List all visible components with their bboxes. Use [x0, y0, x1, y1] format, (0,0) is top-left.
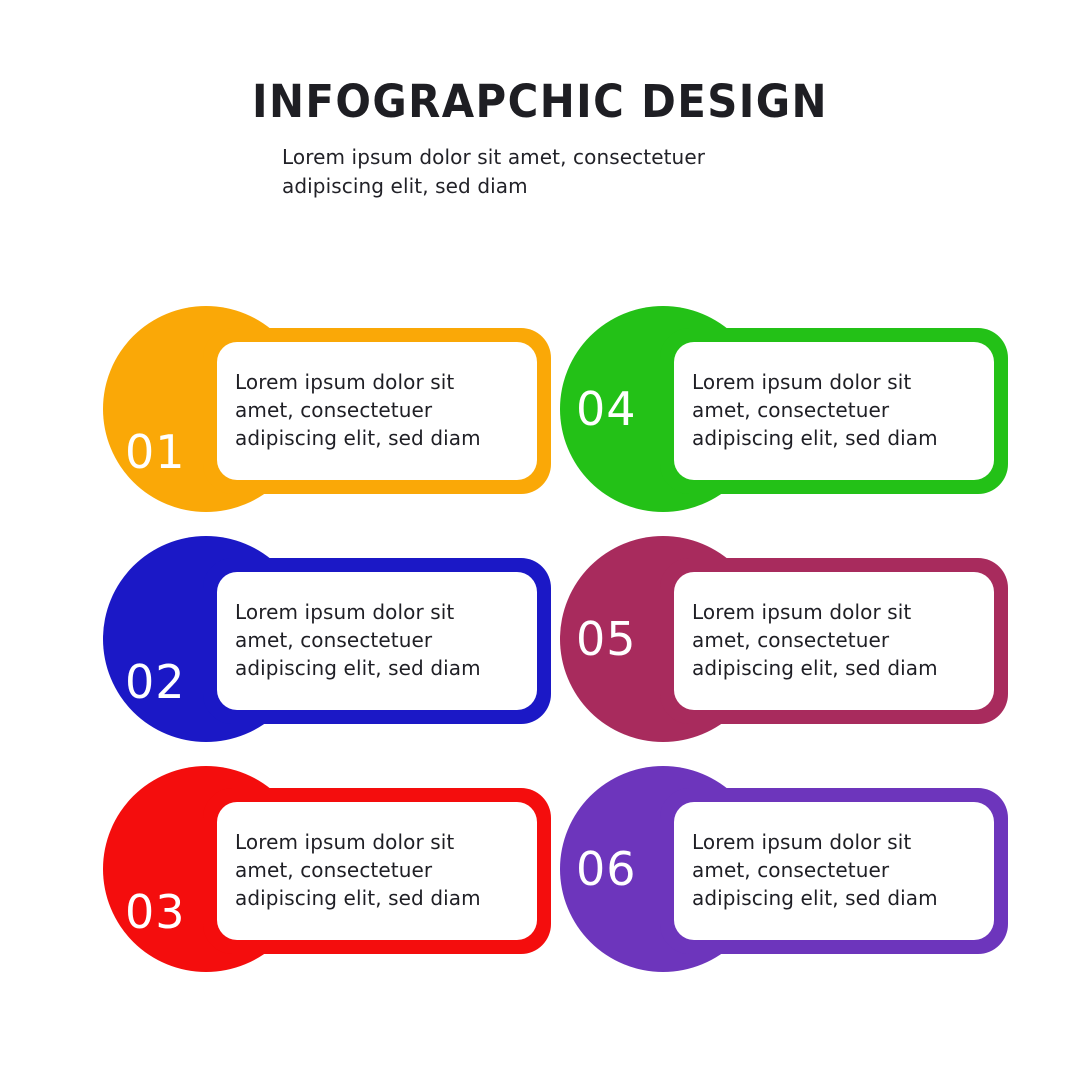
- card-text-line-2: amet, consectetuer: [692, 626, 982, 654]
- card-text-line-2: amet, consectetuer: [692, 396, 982, 424]
- page-subtitle: Lorem ipsum dolor sit amet, consectetuer…: [282, 143, 842, 201]
- card-number-04: 04: [576, 386, 637, 432]
- page-title: INFOGRAPCHIC DESIGN: [38, 76, 1042, 128]
- card-text-line-1: Lorem ipsum dolor sit: [235, 598, 525, 626]
- card-panel-04: Lorem ipsum dolor sit amet, consectetuer…: [674, 342, 994, 480]
- card-text-line-1: Lorem ipsum dolor sit: [692, 828, 982, 856]
- page-subtitle-line-2: adipiscing elit, sed diam: [282, 172, 842, 201]
- card-text-03: Lorem ipsum dolor sit amet, consectetuer…: [235, 828, 525, 912]
- card-text-line-3: adipiscing elit, sed diam: [692, 654, 982, 682]
- infographic-card-04[interactable]: Lorem ipsum dolor sit amet, consectetuer…: [560, 306, 1010, 516]
- card-text-04: Lorem ipsum dolor sit amet, consectetuer…: [692, 368, 982, 452]
- card-text-line-3: adipiscing elit, sed diam: [692, 424, 982, 452]
- infographic-canvas: INFOGRAPCHIC DESIGN Lorem ipsum dolor si…: [0, 0, 1080, 1080]
- page-subtitle-line-1: Lorem ipsum dolor sit amet, consectetuer: [282, 143, 842, 172]
- infographic-card-05[interactable]: Lorem ipsum dolor sit amet, consectetuer…: [560, 536, 1010, 746]
- card-panel-05: Lorem ipsum dolor sit amet, consectetuer…: [674, 572, 994, 710]
- card-text-line-2: amet, consectetuer: [692, 856, 982, 884]
- card-number-02: 02: [125, 659, 186, 705]
- infographic-card-03[interactable]: Lorem ipsum dolor sit amet, consectetuer…: [103, 766, 553, 976]
- card-panel-03: Lorem ipsum dolor sit amet, consectetuer…: [217, 802, 537, 940]
- card-number-01: 01: [125, 429, 186, 475]
- card-text-line-3: adipiscing elit, sed diam: [692, 884, 982, 912]
- card-text-line-2: amet, consectetuer: [235, 626, 525, 654]
- card-panel-02: Lorem ipsum dolor sit amet, consectetuer…: [217, 572, 537, 710]
- infographic-card-02[interactable]: Lorem ipsum dolor sit amet, consectetuer…: [103, 536, 553, 746]
- card-panel-06: Lorem ipsum dolor sit amet, consectetuer…: [674, 802, 994, 940]
- card-text-01: Lorem ipsum dolor sit amet, consectetuer…: [235, 368, 525, 452]
- card-panel-01: Lorem ipsum dolor sit amet, consectetuer…: [217, 342, 537, 480]
- card-text-line-2: amet, consectetuer: [235, 856, 525, 884]
- card-number-05: 05: [576, 616, 637, 662]
- card-text-line-3: adipiscing elit, sed diam: [235, 424, 525, 452]
- card-text-02: Lorem ipsum dolor sit amet, consectetuer…: [235, 598, 525, 682]
- card-text-line-1: Lorem ipsum dolor sit: [235, 368, 525, 396]
- card-text-line-1: Lorem ipsum dolor sit: [235, 828, 525, 856]
- card-text-line-3: adipiscing elit, sed diam: [235, 654, 525, 682]
- card-text-line-1: Lorem ipsum dolor sit: [692, 368, 982, 396]
- card-text-05: Lorem ipsum dolor sit amet, consectetuer…: [692, 598, 982, 682]
- card-text-line-3: adipiscing elit, sed diam: [235, 884, 525, 912]
- card-text-line-2: amet, consectetuer: [235, 396, 525, 424]
- card-number-06: 06: [576, 846, 637, 892]
- card-number-03: 03: [125, 889, 186, 935]
- infographic-card-06[interactable]: Lorem ipsum dolor sit amet, consectetuer…: [560, 766, 1010, 976]
- card-text-line-1: Lorem ipsum dolor sit: [692, 598, 982, 626]
- card-text-06: Lorem ipsum dolor sit amet, consectetuer…: [692, 828, 982, 912]
- infographic-card-01[interactable]: Lorem ipsum dolor sit amet, consectetuer…: [103, 306, 553, 516]
